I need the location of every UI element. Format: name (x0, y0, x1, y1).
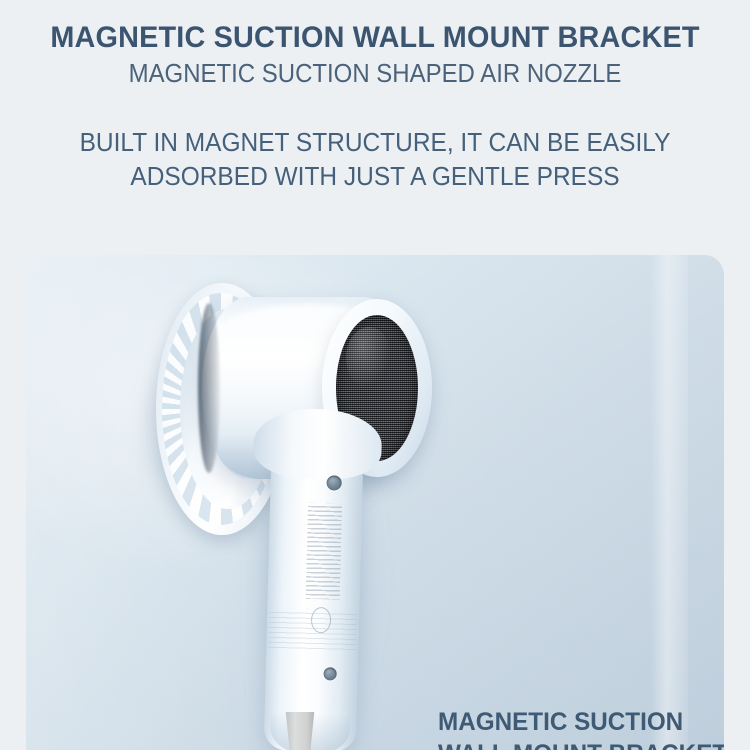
hair-dryer-handle (264, 430, 364, 750)
feature-blurb-line-1: BUILT IN MAGNET STRUCTURE, IT CAN BE EAS… (15, 126, 735, 160)
product-photo: MAGNETIC SUCTION WALL MOUNT BRACKET EASY… (26, 255, 724, 750)
overlay-heading: MAGNETIC SUCTION WALL MOUNT BRACKET (438, 707, 724, 750)
grille-reflection (346, 327, 392, 389)
handle-grip-ridges (268, 608, 357, 650)
overlay-heading-line-1: MAGNETIC SUCTION (438, 707, 724, 739)
overlay-heading-line-2: WALL MOUNT BRACKET (438, 739, 724, 750)
wall-panel-seam (650, 255, 688, 750)
handle-screw-hole (326, 475, 341, 490)
page-title: MAGNETIC SUCTION WALL MOUNT BRACKET (15, 22, 735, 54)
handle-lower-screw-hole (323, 667, 336, 680)
photo-overlay-text: MAGNETIC SUCTION WALL MOUNT BRACKET EASY… (438, 707, 724, 750)
page-subtitle: MAGNETIC SUCTION SHAPED AIR NOZZLE (23, 60, 728, 89)
header-text-block: MAGNETIC SUCTION WALL MOUNT BRACKET MAGN… (0, 0, 750, 194)
feature-blurb-line-2: ADSORBED WITH JUST A GENTLE PRESS (15, 160, 735, 194)
product-marketing-image: MAGNETIC SUCTION WALL MOUNT BRACKET MAGN… (0, 0, 750, 750)
product-spec-label (306, 503, 343, 600)
feature-blurb: BUILT IN MAGNET STRUCTURE, IT CAN BE EAS… (15, 126, 735, 194)
